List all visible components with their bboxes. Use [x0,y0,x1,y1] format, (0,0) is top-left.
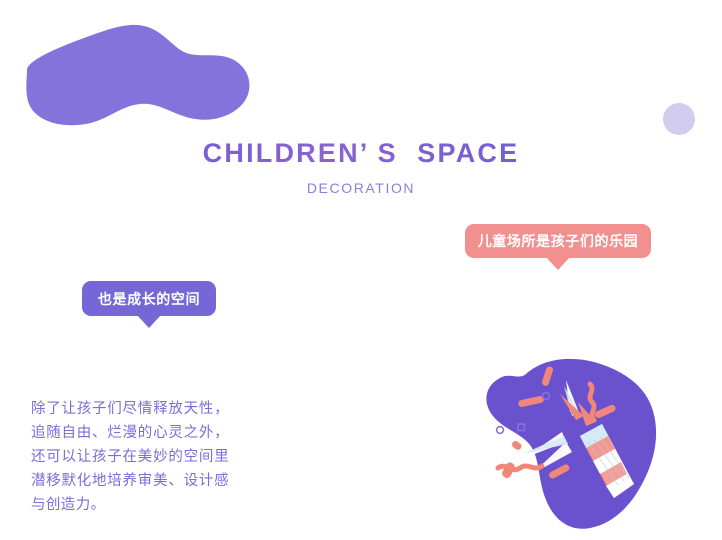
callout-badge-purple-label: 也是成长的空间 [98,289,200,309]
body-paragraph: 除了让孩子们尽情释放天性，追随自由、烂漫的心灵之外，还可以让孩子在美妙的空间里潜… [31,397,229,517]
party-popper-illustration-icon [474,350,670,532]
callout-tail-icon [137,315,161,328]
callout-badge-pink-label: 儿童场所是孩子们的乐园 [478,231,639,251]
blob-shape-icon [22,18,254,128]
slide-canvas: CHILDREN’ S SPACE DECORATION 儿童场所是孩子们的乐园… [0,0,722,540]
circle-dot-icon [663,103,695,135]
page-subtitle: DECORATION [0,180,722,196]
page-title: CHILDREN’ S SPACE [0,136,722,170]
callout-tail-icon [546,257,570,270]
title-block: CHILDREN’ S SPACE DECORATION [0,136,722,196]
callout-badge-purple[interactable]: 也是成长的空间 [82,281,216,316]
callout-badge-pink[interactable]: 儿童场所是孩子们的乐园 [465,224,651,258]
